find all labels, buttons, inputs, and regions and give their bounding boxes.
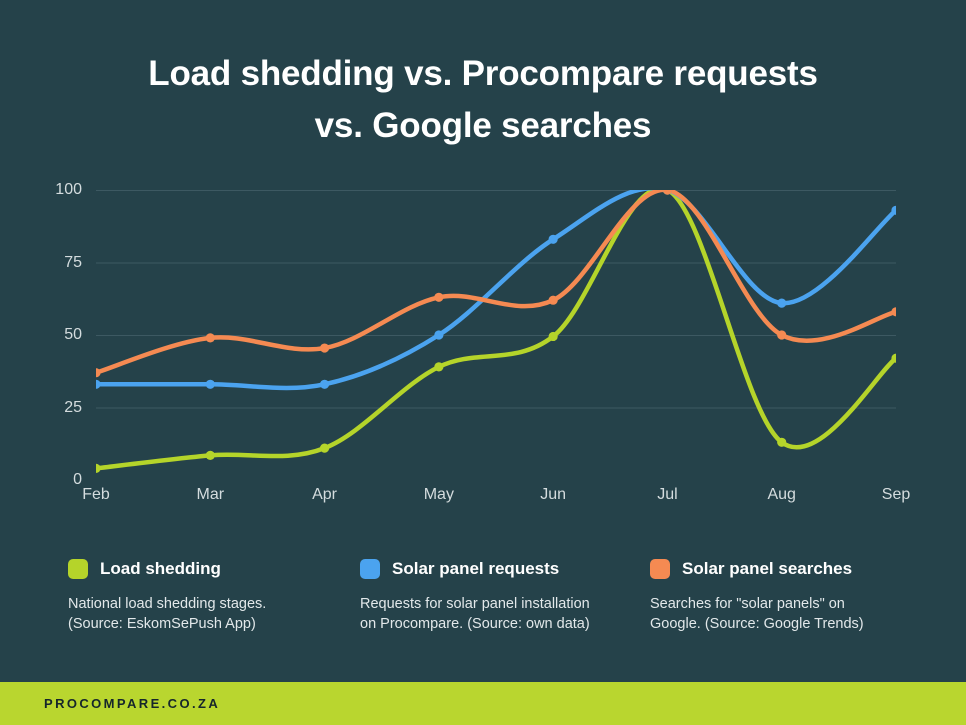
data-point-marker[interactable] — [777, 299, 786, 308]
legend-item-description: Searches for "solar panels" on Google. (… — [650, 594, 864, 634]
legend-item-header: Solar panel searches — [650, 556, 864, 582]
series-lines — [96, 190, 896, 468]
series-line — [96, 190, 896, 373]
legend-swatch-icon — [360, 559, 380, 579]
legend-item-description: National load shedding stages. (Source: … — [68, 594, 266, 634]
data-point-marker[interactable] — [549, 296, 558, 305]
page-title: Load shedding vs. Procompare requests vs… — [120, 48, 846, 152]
series-line — [96, 190, 896, 388]
data-point-marker[interactable] — [320, 343, 329, 352]
x-axis-tick-label: Feb — [56, 486, 136, 504]
x-axis-tick-label: Mar — [170, 486, 250, 504]
data-point-marker[interactable] — [206, 380, 215, 389]
data-point-marker[interactable] — [549, 332, 558, 341]
data-point-marker[interactable] — [206, 333, 215, 342]
legend-item-header: Load shedding — [68, 556, 266, 582]
data-point-marker[interactable] — [96, 380, 101, 389]
plot-area — [96, 190, 896, 480]
y-axis-tick-label: 25 — [22, 399, 82, 417]
legend-item-label: Solar panel requests — [392, 559, 559, 579]
chart-legend: Load sheddingNational load shedding stag… — [68, 556, 928, 646]
legend-item[interactable]: Solar panel searchesSearches for "solar … — [650, 556, 864, 634]
x-axis-tick-label: Apr — [285, 486, 365, 504]
data-point-marker[interactable] — [434, 362, 443, 371]
data-point-marker[interactable] — [434, 330, 443, 339]
legend-item-label: Solar panel searches — [682, 559, 852, 579]
data-point-marker[interactable] — [777, 330, 786, 339]
y-axis-tick-label: 75 — [22, 254, 82, 272]
x-axis-tick-label: May — [399, 486, 479, 504]
footer-bar: PROCOMPARE.CO.ZA — [0, 682, 966, 725]
data-point-marker[interactable] — [549, 235, 558, 244]
legend-item-description: Requests for solar panel installation on… — [360, 594, 590, 634]
legend-item-header: Solar panel requests — [360, 556, 590, 582]
data-point-marker[interactable] — [206, 451, 215, 460]
x-axis-tick-label: Aug — [742, 486, 822, 504]
data-point-marker[interactable] — [777, 438, 786, 447]
legend-item-label: Load shedding — [100, 559, 221, 579]
x-axis-tick-label: Sep — [856, 486, 936, 504]
chart-card: Load shedding vs. Procompare requests vs… — [0, 0, 966, 725]
y-axis-tick-label: 50 — [22, 326, 82, 344]
data-point-marker[interactable] — [434, 293, 443, 302]
data-point-marker[interactable] — [320, 444, 329, 453]
x-axis-tick-label: Jul — [627, 486, 707, 504]
legend-item[interactable]: Solar panel requestsRequests for solar p… — [360, 556, 590, 634]
data-point-marker[interactable] — [320, 380, 329, 389]
data-point-marker[interactable] — [96, 464, 101, 473]
y-axis-tick-label: 100 — [22, 181, 82, 199]
legend-item[interactable]: Load sheddingNational load shedding stag… — [68, 556, 266, 634]
line-chart-svg — [96, 190, 896, 480]
footer-site-label: PROCOMPARE.CO.ZA — [44, 696, 220, 711]
legend-swatch-icon — [650, 559, 670, 579]
x-axis-tick-label: Jun — [513, 486, 593, 504]
legend-swatch-icon — [68, 559, 88, 579]
